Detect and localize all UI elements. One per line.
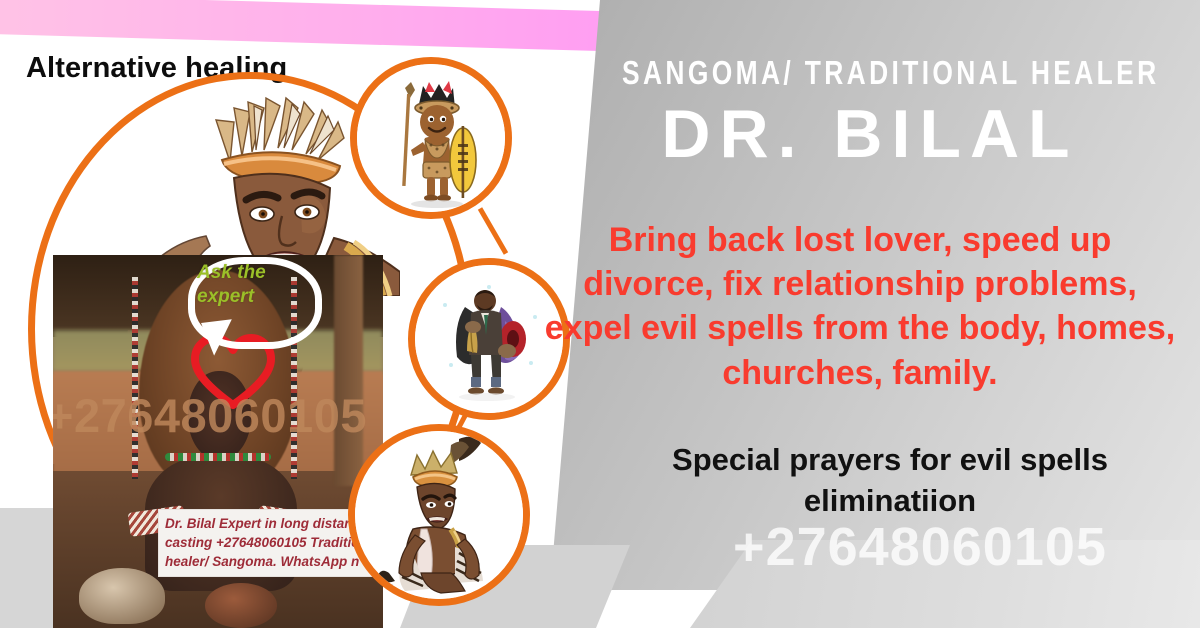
zulu-warrior-cartoon-circle <box>350 57 512 219</box>
photo-clay-pot-secondary <box>205 583 278 628</box>
photo-bead-strand-left <box>132 277 138 478</box>
pink-top-bar <box>0 0 610 51</box>
photo-clay-pot <box>79 568 165 624</box>
photo-phone-watermark: +27648060105 <box>53 392 383 439</box>
speech-bubble-text: Ask the expert <box>197 261 305 309</box>
crouching-traditional-dancer-circle <box>348 424 530 606</box>
services-black-text: Special prayers for evil spells eliminat… <box>600 440 1180 522</box>
phone-watermark: +27648060105 <box>640 520 1200 574</box>
photo-neck-beads <box>165 453 271 461</box>
kicker-heading: SANGOMA/ TRADITIONAL HEALER <box>622 56 1118 89</box>
page-title: DR. BILAL <box>560 100 1180 168</box>
healer-photograph: Ask the expert +27648060105 Dr. Bilal Ex… <box>53 255 383 628</box>
services-red-text: Bring back lost lover, speed up divorce,… <box>540 218 1180 395</box>
connector-line-top <box>478 207 508 255</box>
poster-canvas: Alternative healing <box>0 0 1200 628</box>
photo-wooden-post <box>334 255 364 486</box>
